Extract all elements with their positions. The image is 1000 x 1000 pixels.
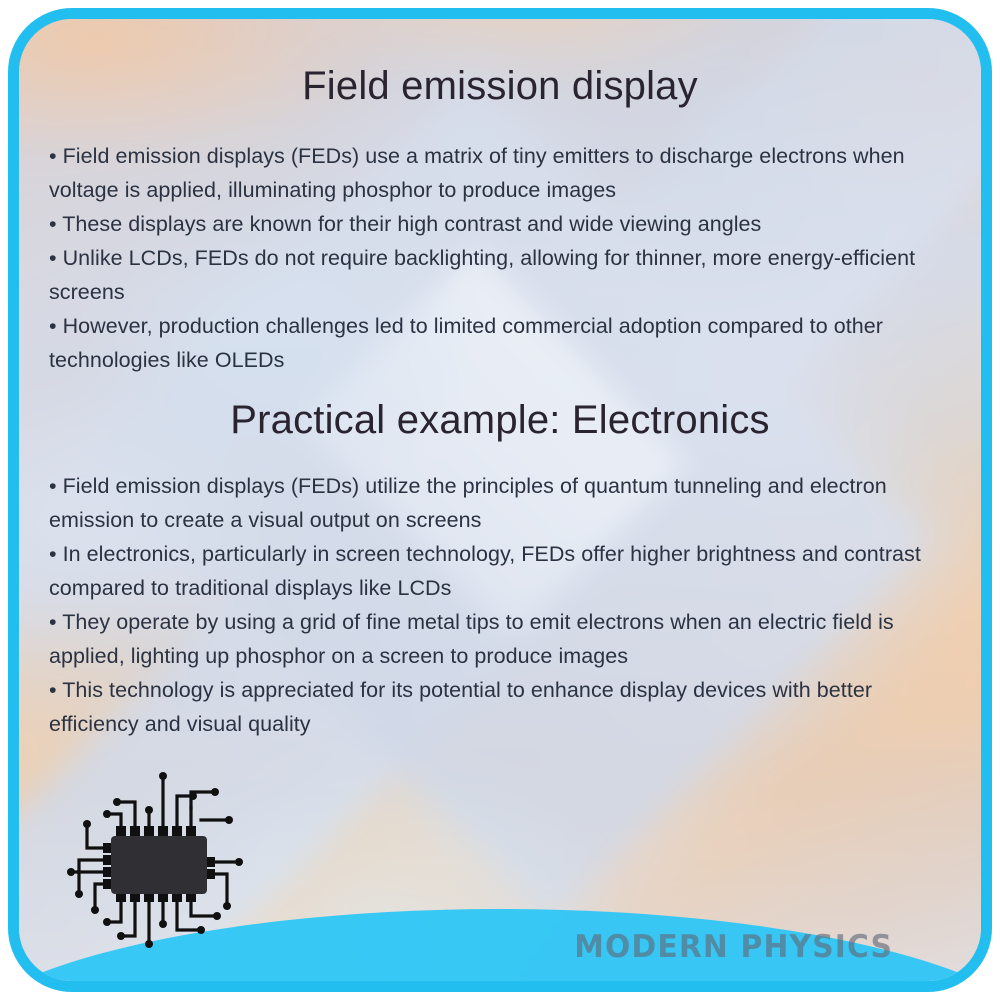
section-title: Practical example: Electronics: [19, 397, 981, 443]
list-item: • In electronics, particularly in screen…: [49, 537, 953, 605]
list-item: • These displays are known for their hig…: [49, 207, 953, 241]
list-item: • Unlike LCDs, FEDs do not require backl…: [49, 241, 953, 309]
page-title: Field emission display: [19, 63, 981, 109]
slide-frame: Field emission display • Field emission …: [8, 8, 992, 992]
list-item: • Field emission displays (FEDs) use a m…: [49, 139, 953, 207]
watermark-label: MODERN PHYSICS: [574, 929, 893, 965]
bullet-list-primary: • Field emission displays (FEDs) use a m…: [49, 139, 953, 377]
bullet-list-example: • Field emission displays (FEDs) utilize…: [49, 469, 953, 741]
list-item: • This technology is appreciated for its…: [49, 673, 953, 741]
chip-body: [111, 836, 207, 894]
list-item: • However, production challenges led to …: [49, 309, 953, 377]
list-item: • They operate by using a grid of fine m…: [49, 605, 953, 673]
slide-content: Field emission display • Field emission …: [19, 19, 981, 981]
microchip-icon: [51, 764, 266, 959]
slide-canvas: Field emission display • Field emission …: [0, 0, 1000, 1000]
list-item: • Field emission displays (FEDs) utilize…: [49, 469, 953, 537]
